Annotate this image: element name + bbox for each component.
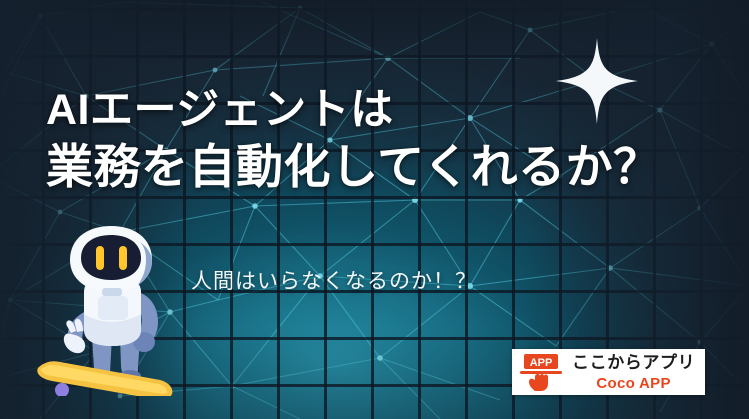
logo-badge[interactable]: APP ここからアプリ Coco APP bbox=[512, 349, 705, 395]
logo-text-block: ここからアプリ Coco APP bbox=[570, 354, 695, 391]
subtitle-text: 人間はいらなくなるのか！？ bbox=[191, 265, 477, 295]
headline-block: AIエージェントは 業務を自動化してくれるか？ bbox=[46, 84, 661, 195]
robot-mascot-icon bbox=[34, 218, 184, 396]
app-hand-icon: APP bbox=[518, 352, 570, 392]
logo-sub-text: Coco APP bbox=[572, 376, 695, 391]
app-tag-label: APP bbox=[530, 357, 553, 369]
headline-line-1: AIエージェントは bbox=[46, 84, 661, 136]
headline-line-2: 業務を自動化してくれるか？ bbox=[46, 139, 661, 195]
logo-main-text: ここからアプリ bbox=[572, 354, 695, 371]
banner-image: AIエージェントは 業務を自動化してくれるか？ 人間はいらなくなるのか！？ bbox=[0, 0, 749, 419]
